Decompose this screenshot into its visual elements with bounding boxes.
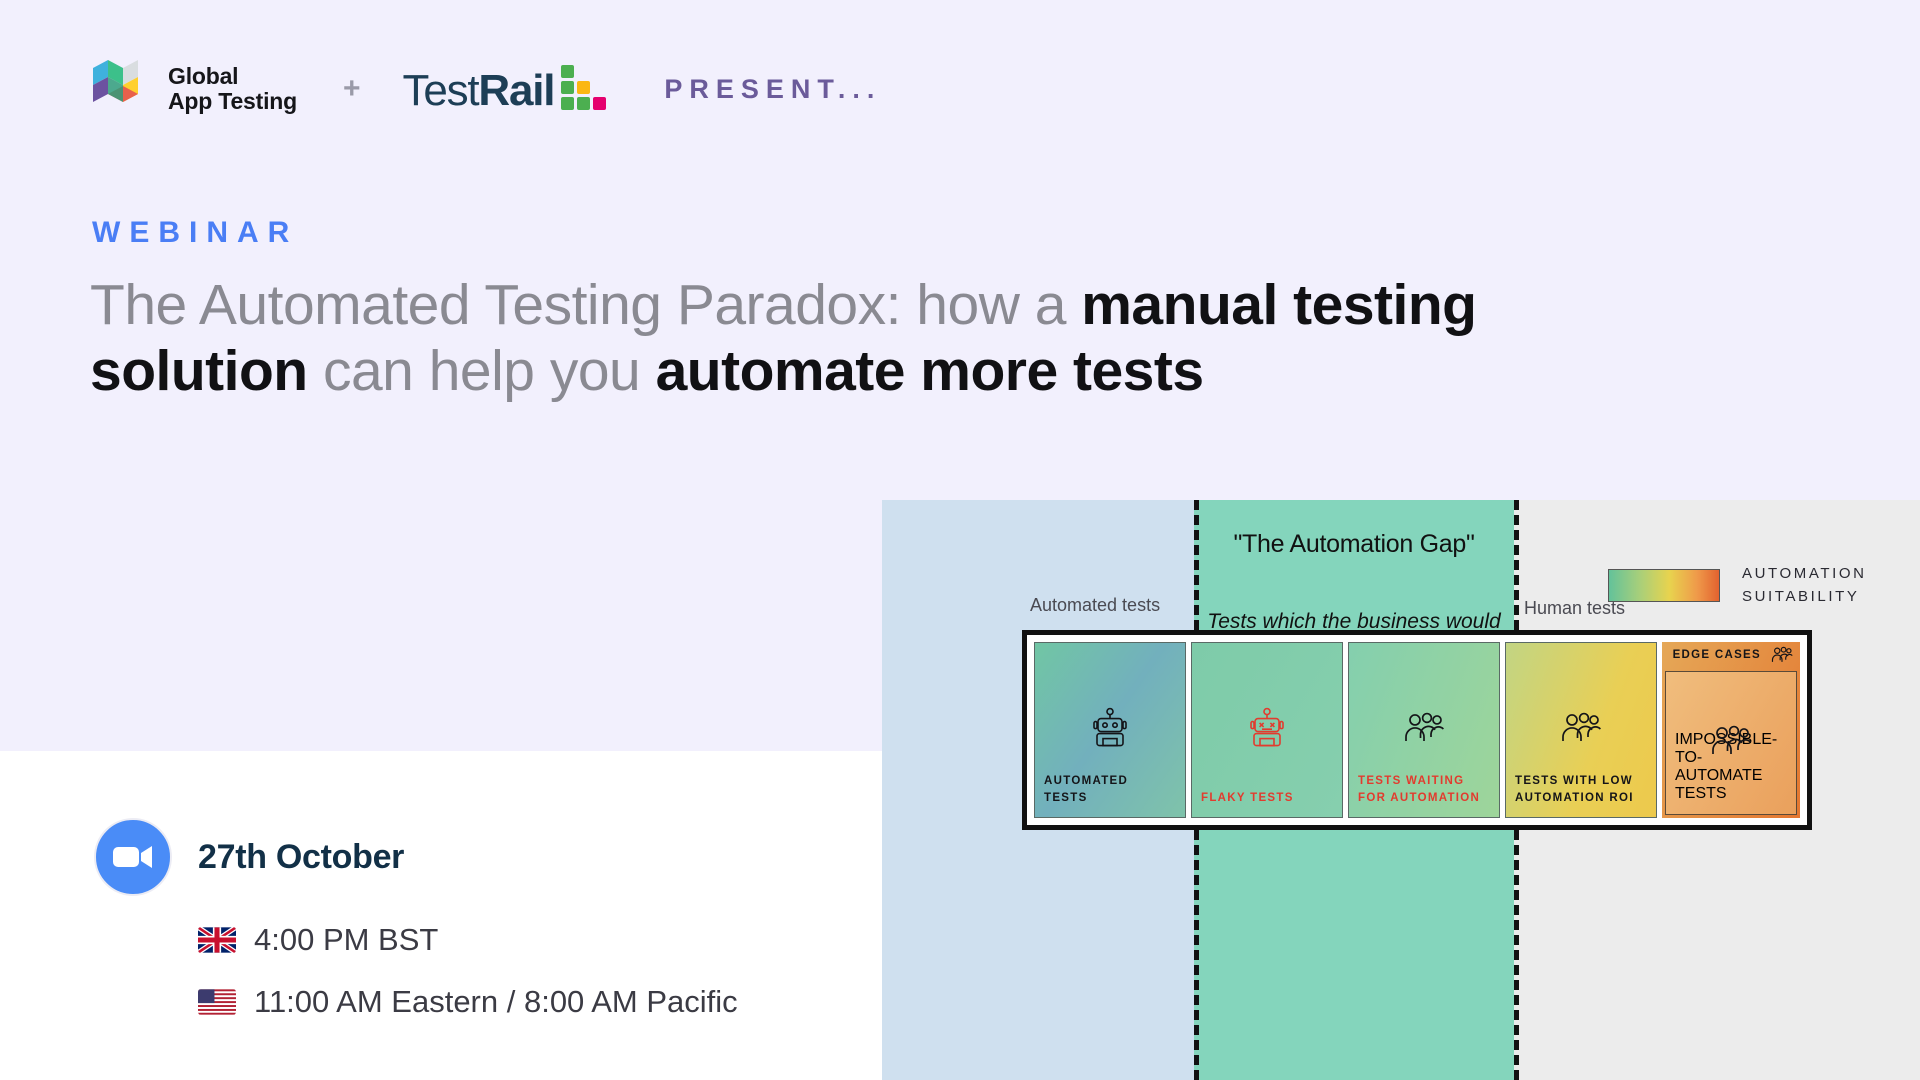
legend-gradient-bar [1608,569,1720,602]
testrail-wordmark: TestRail [403,69,555,113]
category-card-impossible-to-automate-tests: IMPOSSIBLE-TO-AUTOMATE TESTS [1665,671,1797,815]
global-app-testing-logo: Global App Testing [92,56,297,122]
category-label: TESTS WAITING FOR AUTOMATION [1358,773,1490,806]
brand-header: Global App Testing + TestRail PRESENT... [92,56,881,122]
testrail-word-light: Test [403,66,479,115]
event-date: 27th October [198,838,404,877]
automation-gap-title: "The Automation Gap" [1194,530,1514,559]
legend-label-line2: SUITABILITY [1742,585,1867,608]
testrail-squares-icon [561,65,606,110]
category-label: AUTOMATED TESTS [1044,773,1176,806]
present-label: PRESENT... [664,74,881,105]
testrail-logo: TestRail [403,65,607,113]
global-app-testing-wordmark: Global App Testing [168,64,297,114]
uk-flag-icon [198,927,236,953]
people-icon [1770,646,1794,664]
us-flag-icon [198,989,236,1015]
title-segment-2: can help you [308,339,656,403]
robot-icon [1035,708,1185,748]
gat-wordmark-line1: Global [168,64,297,89]
robot-broken-icon [1192,708,1342,748]
webinar-eyebrow: WEBINAR [92,216,298,250]
time-text-us: 11:00 AM Eastern / 8:00 AM Pacific [254,984,738,1020]
zone-label-automated: Automated tests [1030,595,1160,616]
category-card-tests-with-low-automation-roi: TESTS WITH LOW AUTOMATION ROI [1505,642,1657,818]
title-segment-1: The Automated Testing Paradox: how a [90,273,1081,337]
event-date-row: 27th October [94,818,738,896]
time-row-us: 11:00 AM Eastern / 8:00 AM Pacific [198,984,738,1020]
title-bold-2: automate more tests [656,339,1204,403]
category-label: TESTS WITH LOW AUTOMATION ROI [1515,773,1647,806]
page-title: The Automated Testing Paradox: how a man… [90,272,1510,404]
time-row-uk: 4:00 PM BST [198,922,738,958]
edge-cases-group: EDGE CASES IMPOSSIBLE-TO-AUTOMATE TESTS [1662,642,1800,818]
time-text-uk: 4:00 PM BST [254,922,438,958]
people-icon [1506,711,1656,745]
people-icon [1666,724,1796,758]
people-icon [1349,711,1499,745]
testrail-word-bold: Rail [478,66,554,115]
category-card-tests-waiting-for-automation: TESTS WAITING FOR AUTOMATION [1348,642,1500,818]
plus-separator: + [343,74,361,104]
event-details: 27th October 4:00 PM BST 11:00 AM Easter… [94,818,738,1020]
global-app-testing-hexagon-icon [92,56,154,122]
test-category-strip: AUTOMATED TESTS FLAKY TESTS [1022,630,1812,830]
video-camera-glyph [112,844,154,870]
gat-wordmark-line2: App Testing [168,89,297,114]
legend-label: AUTOMATION SUITABILITY [1742,562,1867,609]
legend-label-line1: AUTOMATION [1742,562,1867,585]
edge-cases-label: EDGE CASES [1673,649,1761,661]
zoom-video-icon [94,818,172,896]
edge-cases-header: EDGE CASES [1662,646,1794,664]
category-card-automated-tests: AUTOMATED TESTS [1034,642,1186,818]
category-label: FLAKY TESTS [1201,790,1333,806]
automation-gap-diagram: "The Automation Gap" Tests which the bus… [882,500,1920,1080]
category-card-flaky-tests: FLAKY TESTS [1191,642,1343,818]
automation-suitability-legend: AUTOMATION SUITABILITY [1608,562,1867,609]
